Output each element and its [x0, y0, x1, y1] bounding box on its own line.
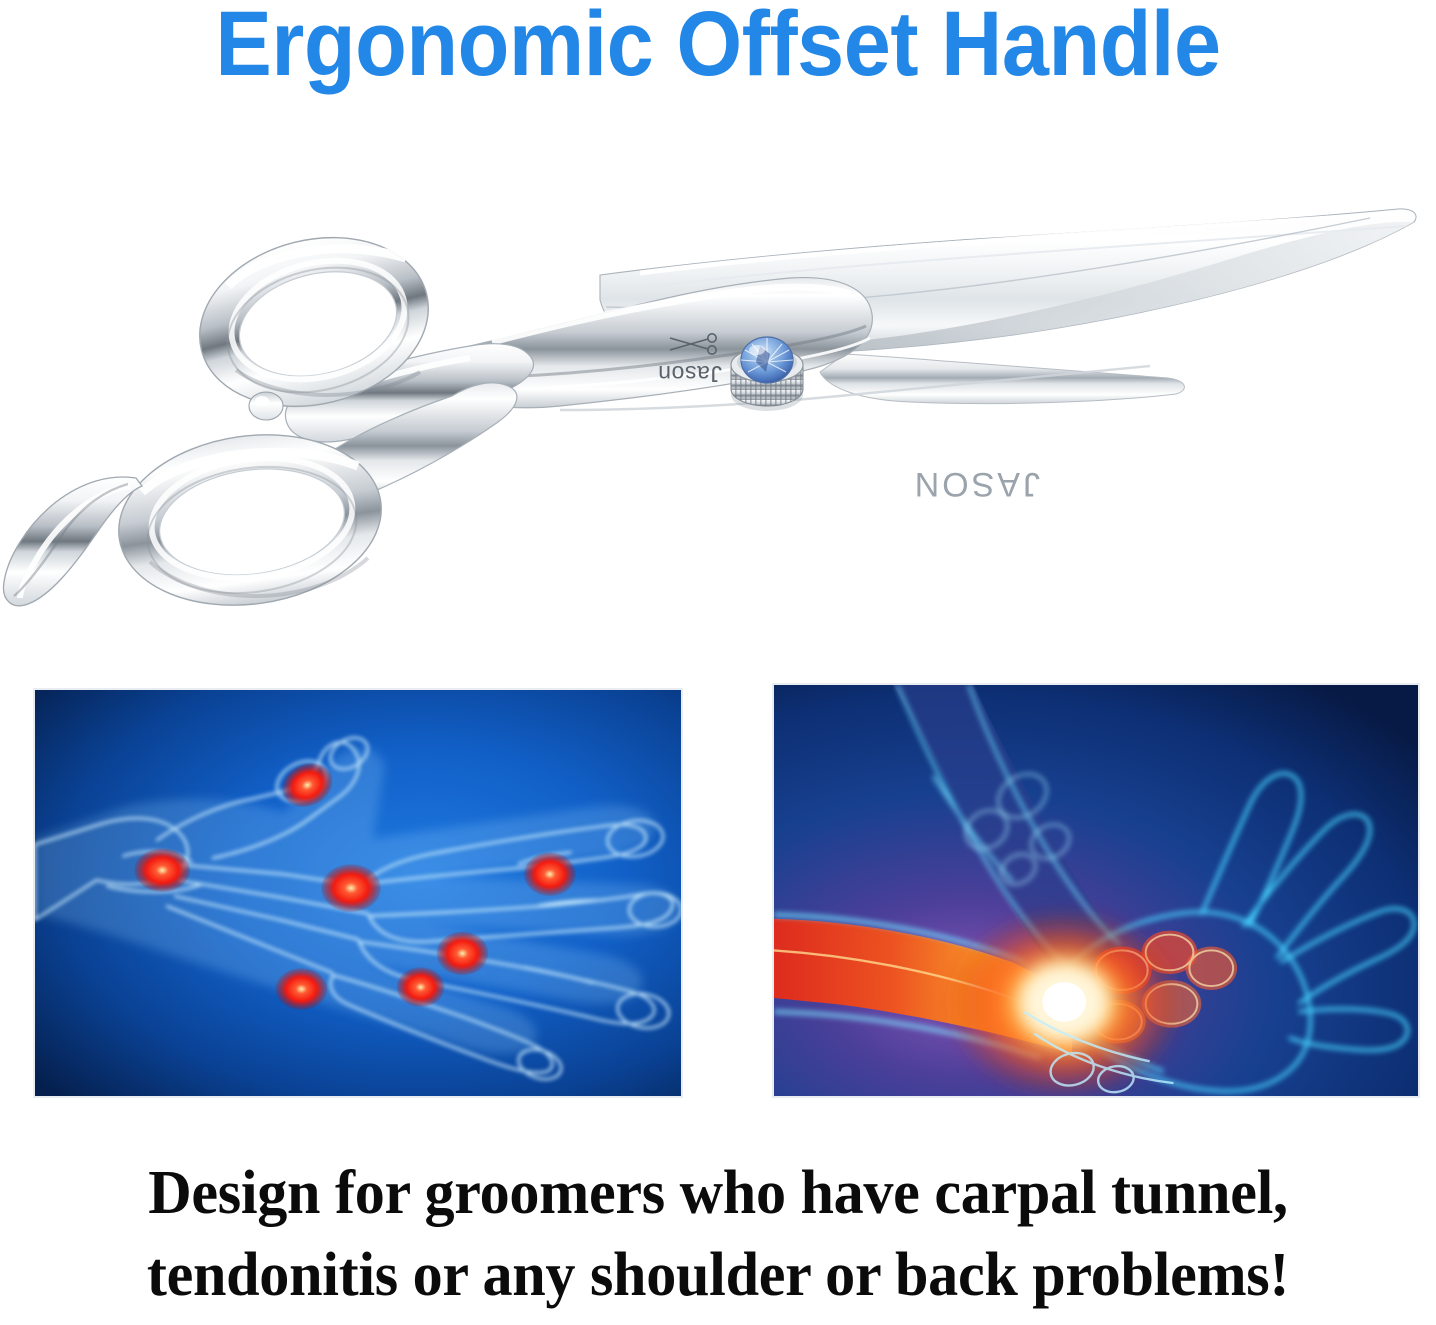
handle-bumper-stud: [249, 392, 283, 420]
svg-text:JASON: JASON: [912, 465, 1040, 503]
pain-glow: [945, 909, 1184, 1096]
photo-xray-hand-joint-pain: [33, 688, 683, 1098]
product-image-scissors: JASON Jason: [0, 110, 1436, 650]
blade-brand-text: JASON: [912, 465, 1040, 503]
svg-text:Jason: Jason: [658, 361, 722, 387]
photo-xray-wrist-carpal-tunnel: [772, 683, 1420, 1098]
xray-hand-illustration: [35, 690, 681, 1096]
caption-block: Design for groomers who have carpal tunn…: [0, 1152, 1436, 1316]
caption-line-2: tendonitis or any shoulder or back probl…: [22, 1234, 1415, 1316]
scissors-illustration: JASON Jason: [0, 110, 1436, 650]
xray-wrist-illustration: [774, 685, 1418, 1096]
caption-line-1: Design for groomers who have carpal tunn…: [22, 1152, 1415, 1234]
page-title: Ergonomic Offset Handle: [57, 0, 1378, 94]
